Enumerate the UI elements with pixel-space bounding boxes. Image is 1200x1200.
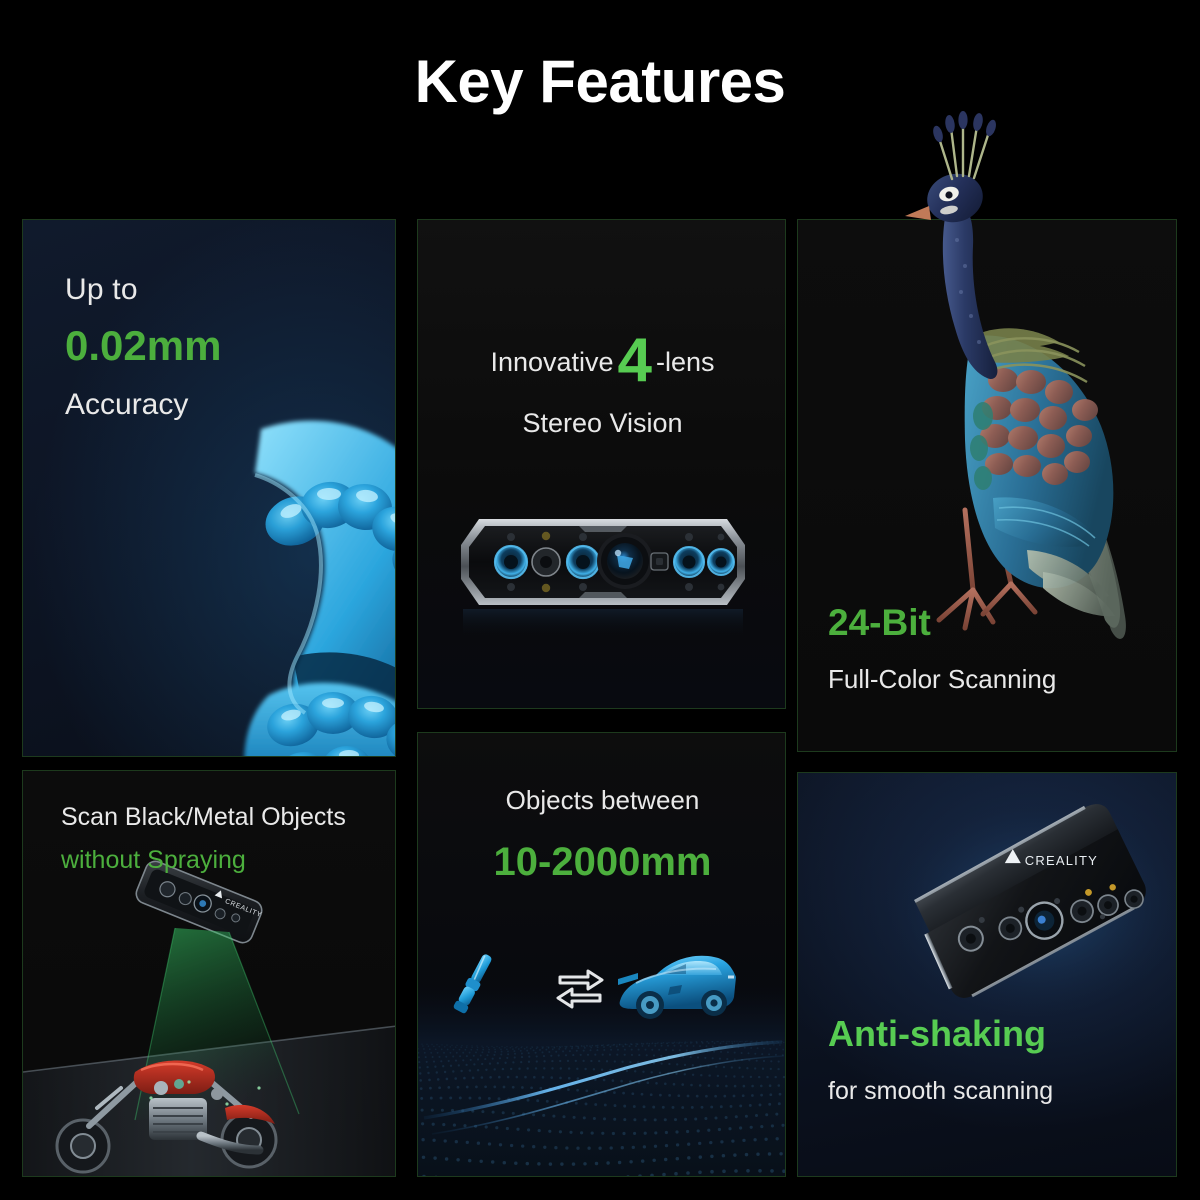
lens-count: 4 (618, 326, 652, 395)
full-color-scanning-card[interactable]: 24-Bit Full-Color Scanning (797, 219, 1177, 752)
stereo-vision-line1: Innovative4-lens (418, 330, 786, 392)
color-caption: Full-Color Scanning (828, 664, 1056, 695)
accuracy-line3: Accuracy (65, 388, 221, 422)
black-metal-text-block: Scan Black/Metal Objects without Sprayin… (61, 803, 346, 875)
accuracy-card[interactable]: Up to 0.02mm Accuracy (22, 219, 396, 757)
brand-label: CREALITY (1025, 853, 1098, 868)
black-metal-line2: without Spraying (61, 846, 346, 875)
color-text-block: 24-Bit Full-Color Scanning (828, 602, 1056, 695)
scanner-beam-icon: CREALITY (23, 876, 396, 1177)
range-line1: Objects between (418, 785, 786, 816)
teeth-scan-icon (143, 395, 396, 757)
range-value: 10-2000mm (418, 840, 786, 885)
page-title: Key Features (0, 52, 1200, 112)
range-text-block: Objects between 10-2000mm (418, 785, 786, 885)
handheld-scanner-icon: CREALITY (886, 783, 1177, 1043)
key-features-page: Key Features (0, 0, 1200, 1200)
black-metal-line1: Scan Black/Metal Objects (61, 803, 346, 832)
stereo-vision-text-block: Innovative4-lens Stereo Vision (418, 330, 786, 439)
stereo-vision-card[interactable]: Innovative4-lens Stereo Vision (417, 219, 786, 709)
scanner-device-icon (453, 505, 753, 635)
bit-depth-value: 24-Bit (828, 602, 1056, 644)
anti-shaking-title: Anti-shaking (828, 1013, 1053, 1055)
accuracy-value: 0.02mm (65, 322, 221, 370)
stereo-suffix: -lens (656, 347, 715, 377)
anti-shaking-text-block: Anti-shaking for smooth scanning (828, 1013, 1053, 1106)
anti-shaking-caption: for smooth scanning (828, 1077, 1053, 1106)
anti-shaking-card[interactable]: CREALITY Anti-shaking for smooth scannin… (797, 772, 1177, 1177)
accuracy-text-block: Up to 0.02mm Accuracy (65, 273, 221, 422)
accuracy-line1: Up to (65, 273, 221, 307)
stereo-prefix: Innovative (490, 347, 613, 377)
scan-black-metal-card[interactable]: Scan Black/Metal Objects without Sprayin… (22, 770, 396, 1177)
object-size-range-card[interactable]: Objects between 10-2000mm (417, 732, 786, 1177)
stereo-vision-line2: Stereo Vision (418, 408, 786, 439)
exchange-arrows-icon (466, 929, 741, 1039)
